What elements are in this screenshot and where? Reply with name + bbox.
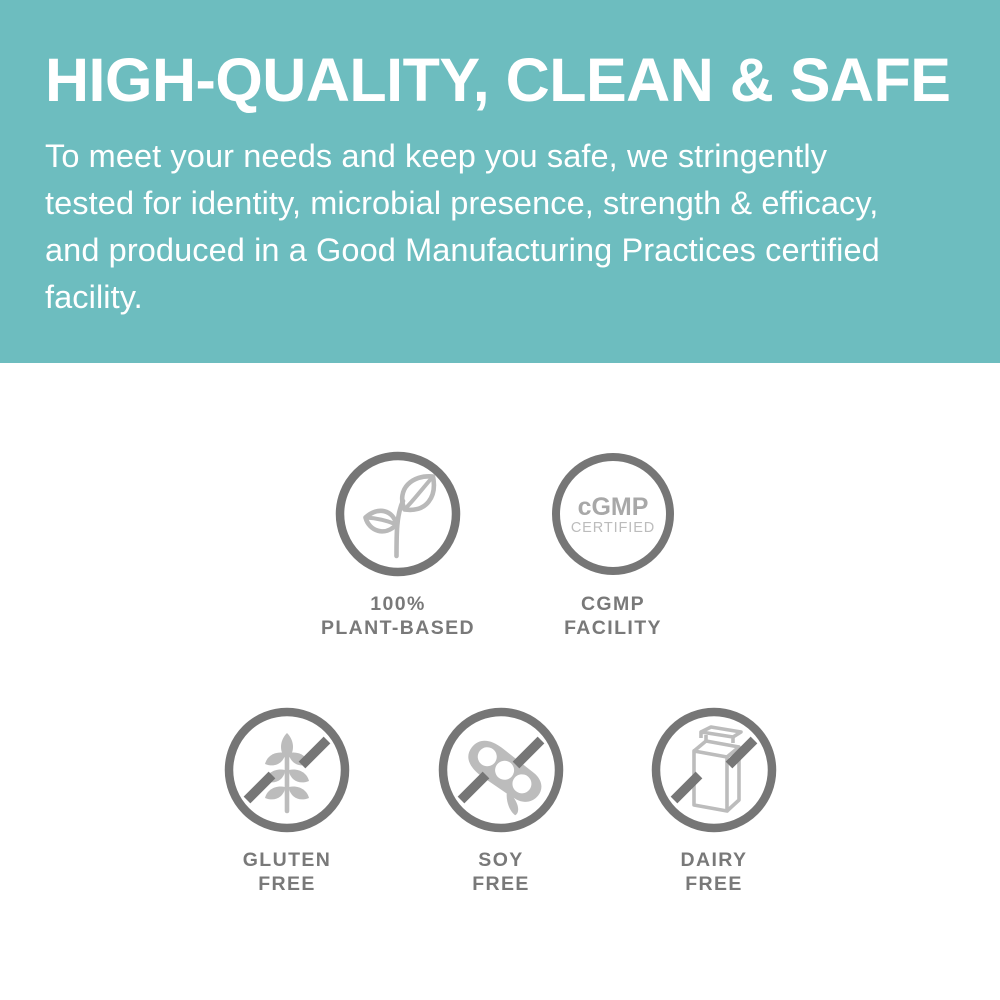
badge-label: GLUTEN FREE	[192, 848, 382, 896]
badge-plant-based: 100% PLANT-BASED	[303, 449, 493, 640]
cgmp-primary-text: cGMP	[578, 493, 649, 521]
wheat-glyph	[265, 733, 309, 811]
no-wheat-icon	[222, 705, 352, 835]
milk-carton-glyph	[694, 727, 741, 811]
badge-soy-free: SOY FREE	[406, 705, 596, 896]
badge-label: SOY FREE	[406, 848, 596, 896]
no-soybean-icon	[436, 705, 566, 835]
cgmp-secondary-text: CERTIFIED	[571, 520, 655, 536]
product-quality-infographic: HIGH-QUALITY, CLEAN & SAFE To meet your …	[0, 0, 1000, 1000]
cgmp-certified-icon: cGMP CERTIFIED	[548, 449, 678, 579]
page-title: HIGH-QUALITY, CLEAN & SAFE	[45, 48, 950, 112]
certification-badge-grid: 100% PLANT-BASED cGMP CERTIFIED CGMP FAC…	[0, 363, 1000, 1000]
badge-label: DAIRY FREE	[619, 848, 809, 896]
badge-gluten-free: GLUTEN FREE	[192, 705, 382, 896]
hero-description: To meet your needs and keep you safe, we…	[45, 133, 925, 321]
badge-cgmp-facility: cGMP CERTIFIED CGMP FACILITY	[518, 449, 708, 640]
badge-label: CGMP FACILITY	[518, 592, 708, 640]
badge-label: 100% PLANT-BASED	[303, 592, 493, 640]
plant-sprout-icon	[333, 449, 463, 579]
badge-dairy-free: DAIRY FREE	[619, 705, 809, 896]
hero-banner: HIGH-QUALITY, CLEAN & SAFE To meet your …	[0, 0, 1000, 363]
no-milk-carton-icon	[649, 705, 779, 835]
